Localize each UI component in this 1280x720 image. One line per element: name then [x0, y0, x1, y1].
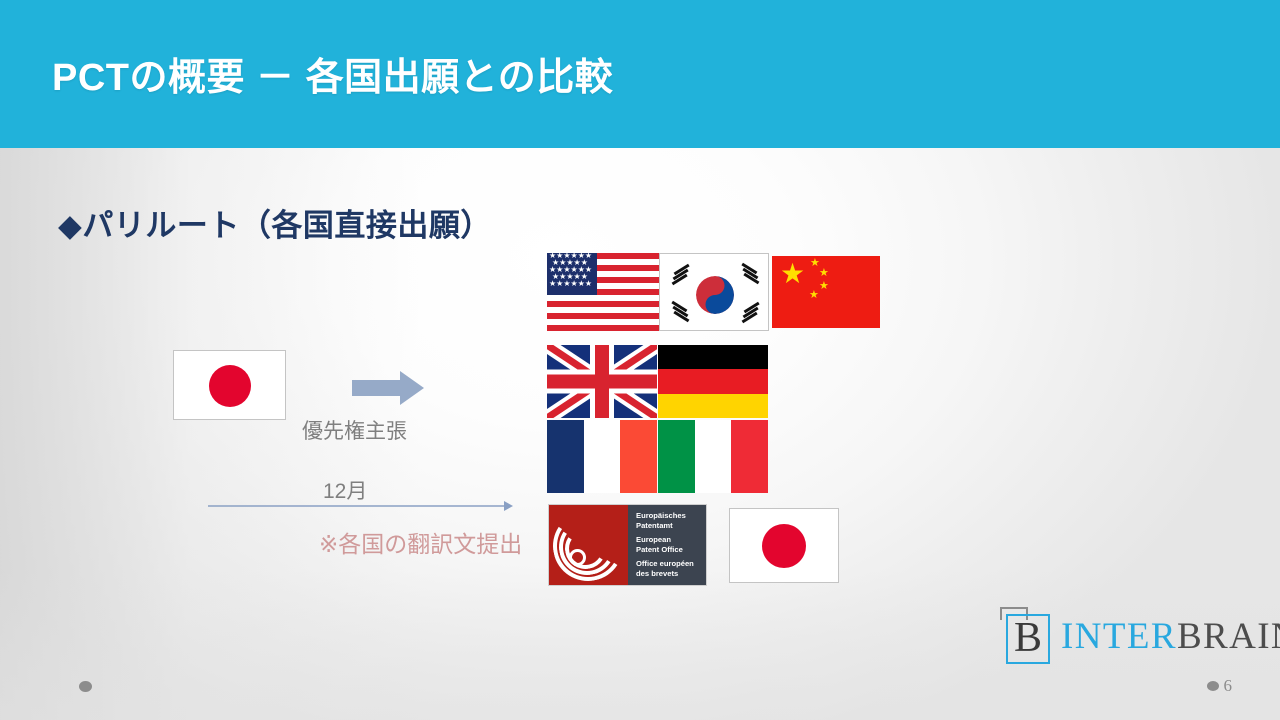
epo-text-fr-line1: Office européen: [636, 559, 700, 569]
usa-flag-canton: ★★★★★★ ★★★★★ ★★★★★★ ★★★★★ ★★★★★★: [547, 253, 597, 295]
interbrain-mark-icon: B: [1000, 607, 1052, 665]
epo-logo: Europäisches Patentamt European Patent O…: [548, 504, 707, 586]
page-number-group: 6: [1207, 676, 1233, 696]
page-number-bullet: [1207, 681, 1219, 691]
italy-flag: [658, 420, 768, 493]
china-flag: ★ ★ ★ ★ ★: [772, 256, 880, 328]
brand-name-part2: BRAIN: [1177, 616, 1280, 657]
epo-text-en-line1: European: [636, 535, 700, 545]
epo-logo-text: Europäisches Patentamt European Patent O…: [628, 505, 706, 585]
annotation-translation-note: ※各国の翻訳文提出: [319, 525, 522, 559]
interbrain-wordmark: INTERBRAIN: [1061, 618, 1280, 655]
japan-flag-disc: [209, 365, 251, 407]
south-korea-flag: [659, 253, 769, 331]
taegeuk-symbol: [696, 276, 734, 314]
brand-mark-letter: B: [1014, 617, 1042, 659]
brand-name-part1: INTER: [1061, 616, 1177, 657]
epo-text-de-line1: Europäisches: [636, 511, 700, 521]
epo-text-de-line2: Patentamt: [636, 521, 700, 531]
page-number: 6: [1224, 676, 1233, 696]
epo-text-fr-line2: des brevets: [636, 569, 700, 579]
japan-flag-source: [173, 350, 286, 420]
block-arrow-right-icon: [352, 371, 424, 405]
germany-flag: [658, 345, 768, 418]
japan-flag-destination: [729, 508, 839, 583]
epo-swirl-icon: [549, 505, 628, 585]
france-flag: [547, 420, 657, 493]
interbrain-logo: B INTERBRAIN: [1000, 607, 1280, 665]
usa-flag: ★★★★★★ ★★★★★ ★★★★★★ ★★★★★ ★★★★★★: [547, 253, 660, 331]
annotation-priority-claim: 優先権主張: [302, 415, 407, 445]
epo-text-en-line2: Patent Office: [636, 545, 700, 555]
united-kingdom-flag: [547, 345, 657, 418]
slide-canvas: PCTの概要 － 各国出願との比較 ◆パリルート（各国直接出願） 優先権主張 1…: [0, 0, 1280, 720]
timeline-arrow-icon: [208, 498, 513, 514]
page-title: PCTの概要 － 各国出願との比較: [52, 46, 613, 101]
section-heading: ◆パリルート（各国直接出願）: [58, 200, 492, 245]
japan-flag-disc: [762, 524, 806, 568]
footer-bullet-left: [79, 681, 92, 692]
